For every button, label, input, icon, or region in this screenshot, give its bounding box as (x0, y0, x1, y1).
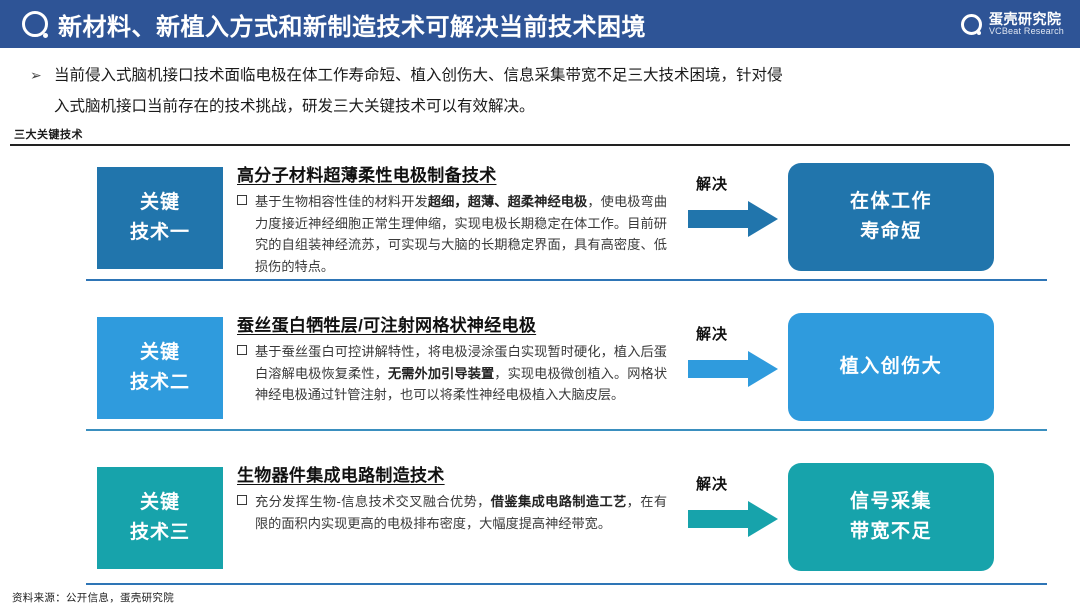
key-tech-body-2: 蚕丝蛋白牺牲层/可注射网格状神经电极 基于蚕丝蛋白可控讲解特性，将电极浸涂蛋白实… (237, 311, 667, 406)
intro-paragraph: ➢ 当前侵入式脑机接口技术面临电极在体工作寿命短、植入创伤大、信息采集带宽不足三… (30, 60, 1060, 122)
tech-title-3: 生物器件集成电路制造技术 (237, 461, 667, 486)
section-divider (10, 144, 1070, 146)
key-tech-tile-3[interactable]: 关键 技术三 (97, 467, 223, 569)
tile-3-line-1: 关键 (140, 488, 180, 518)
arrow-label-3: 解决 (696, 473, 728, 494)
intro-text-line-1: 当前侵入式脑机接口技术面临电极在体工作寿命短、植入创伤大、信息采集带宽不足三大技… (54, 60, 783, 91)
square-bullet-icon (237, 345, 255, 406)
key-tech-body-3: 生物器件集成电路制造技术 充分发挥生物-信息技术交叉融合优势，借鉴集成电路制造工… (237, 461, 667, 534)
intro-line-1: ➢ 当前侵入式脑机接口技术面临电极在体工作寿命短、植入创伤大、信息采集带宽不足三… (30, 60, 1060, 91)
arrow-label-2: 解决 (696, 323, 728, 344)
result-2-line-1: 植入创伤大 (840, 352, 943, 382)
solves-arrow-1: 解决 (688, 173, 788, 243)
tech-title-1: 高分子材料超薄柔性电极制备技术 (237, 161, 667, 186)
row-divider-3 (86, 583, 1047, 585)
right-arrow-icon (688, 199, 780, 239)
key-tech-row-3: 关键 技术三 生物器件集成电路制造技术 充分发挥生物-信息技术交叉融合优势，借鉴… (0, 461, 1080, 573)
tech-desc-wrap-3: 充分发挥生物-信息技术交叉融合优势，借鉴集成电路制造工艺，在有限的面积内实现更高… (237, 491, 667, 534)
tech-desc-1: 基于生物相容性佳的材料开发超细，超薄、超柔神经电极，使电极弯曲力度接近神经细胞正… (255, 191, 667, 277)
tech-desc-wrap-1: 基于生物相容性佳的材料开发超细，超薄、超柔神经电极，使电极弯曲力度接近神经细胞正… (237, 191, 667, 277)
result-3-line-2: 带宽不足 (850, 517, 932, 547)
brand-name-cn: 蛋壳研究院 (989, 12, 1064, 27)
tile-2-line-2: 技术二 (130, 368, 190, 398)
tech-desc-wrap-2: 基于蚕丝蛋白可控讲解特性，将电极浸涂蛋白实现暂时硬化，植入后蛋白溶解电极恢复柔性… (237, 341, 667, 406)
right-arrow-icon (688, 349, 780, 389)
result-box-3[interactable]: 信号采集 带宽不足 (788, 463, 994, 571)
section-label: 三大关键技术 (14, 126, 83, 142)
right-arrow-icon (688, 499, 780, 539)
tile-1-line-1: 关键 (140, 188, 180, 218)
page-title: 新材料、新植入方式和新制造技术可解决当前技术困境 (58, 7, 646, 42)
page-header: 新材料、新植入方式和新制造技术可解决当前技术困境 蛋壳研究院 VCBeat Re… (0, 0, 1080, 48)
result-box-1[interactable]: 在体工作 寿命短 (788, 163, 994, 271)
solves-arrow-3: 解决 (688, 473, 788, 543)
intro-line-2: 入式脑机接口当前存在的技术挑战，研发三大关键技术可以有效解决。 (30, 91, 1060, 122)
source-note: 资料来源：公开信息，蛋壳研究院 (12, 590, 174, 605)
tile-1-line-2: 技术一 (130, 218, 190, 248)
tech-title-2: 蚕丝蛋白牺牲层/可注射网格状神经电极 (237, 311, 667, 336)
arrow-bullet-icon: ➢ (30, 60, 54, 91)
key-tech-tile-2[interactable]: 关键 技术二 (97, 317, 223, 419)
result-1-line-2: 寿命短 (860, 217, 922, 247)
tech-desc-3: 充分发挥生物-信息技术交叉融合优势，借鉴集成电路制造工艺，在有限的面积内实现更高… (255, 491, 667, 534)
result-3-line-1: 信号采集 (850, 487, 932, 517)
brand-circle-o-icon (961, 14, 982, 35)
tile-3-line-2: 技术三 (130, 518, 190, 548)
square-bullet-icon (237, 195, 255, 277)
intro-bullet-spacer (30, 91, 54, 122)
key-tech-row-1: 关键 技术一 高分子材料超薄柔性电极制备技术 基于生物相容性佳的材料开发超细，超… (0, 161, 1080, 273)
key-tech-tile-1[interactable]: 关键 技术一 (97, 167, 223, 269)
tech-desc-2: 基于蚕丝蛋白可控讲解特性，将电极浸涂蛋白实现暂时硬化，植入后蛋白溶解电极恢复柔性… (255, 341, 667, 406)
result-box-2[interactable]: 植入创伤大 (788, 313, 994, 421)
key-tech-body-1: 高分子材料超薄柔性电极制备技术 基于生物相容性佳的材料开发超细，超薄、超柔神经电… (237, 161, 667, 277)
arrow-label-1: 解决 (696, 173, 728, 194)
circle-o-mark-icon (22, 11, 48, 37)
brand-name-en: VCBeat Research (989, 27, 1064, 36)
row-divider-1 (86, 279, 1047, 281)
key-tech-row-2: 关键 技术二 蚕丝蛋白牺牲层/可注射网格状神经电极 基于蚕丝蛋白可控讲解特性，将… (0, 311, 1080, 423)
result-1-line-1: 在体工作 (850, 187, 932, 217)
brand-text: 蛋壳研究院 VCBeat Research (989, 12, 1064, 36)
row-divider-2 (86, 429, 1047, 431)
header-left-group: 新材料、新植入方式和新制造技术可解决当前技术困境 (22, 7, 646, 42)
brand-logo: 蛋壳研究院 VCBeat Research (961, 12, 1064, 36)
square-bullet-icon (237, 495, 255, 534)
intro-text-line-2: 入式脑机接口当前存在的技术挑战，研发三大关键技术可以有效解决。 (54, 91, 535, 122)
solves-arrow-2: 解决 (688, 323, 788, 393)
tile-2-line-1: 关键 (140, 338, 180, 368)
